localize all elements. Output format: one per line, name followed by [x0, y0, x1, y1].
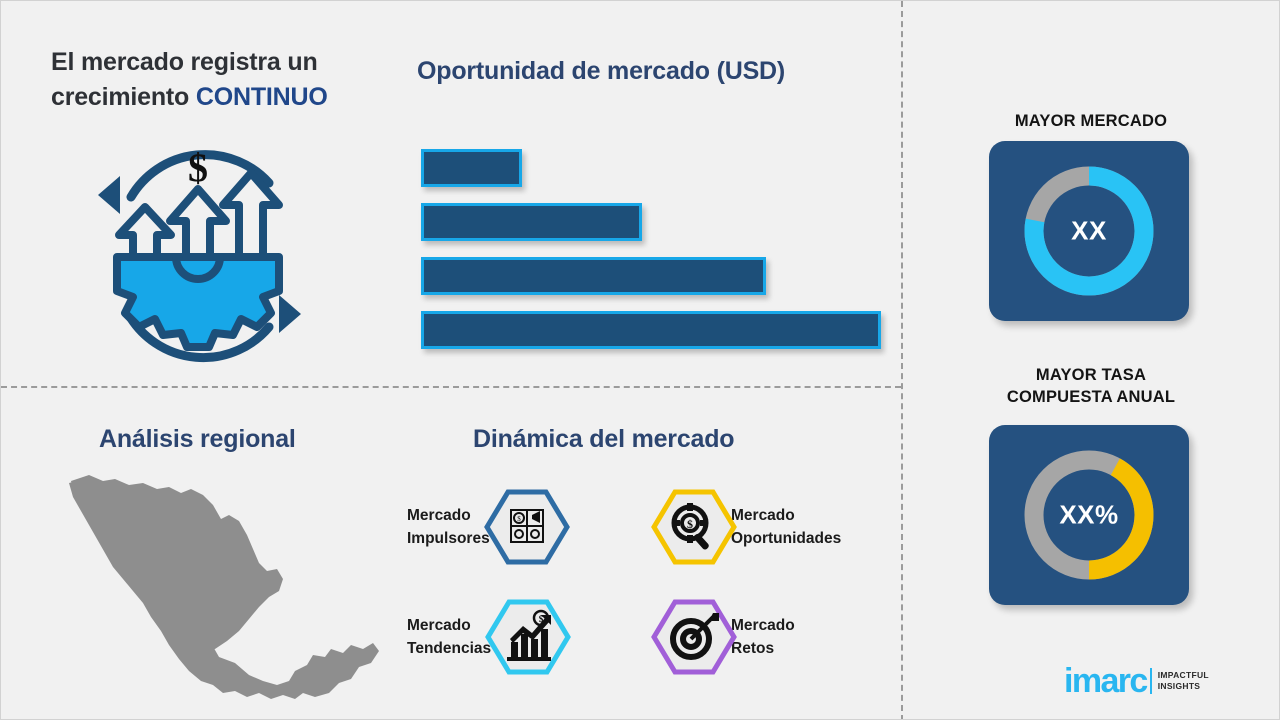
magnifier-dollar-target-icon: $ [651, 489, 737, 565]
vertical-divider [901, 1, 903, 720]
svg-text:$: $ [687, 517, 693, 531]
mexico-map-icon [63, 467, 383, 705]
chart-title: Oportunidad de mercado (USD) [417, 57, 785, 86]
dynamics-label-opportunities: Mercado Oportunidades [731, 504, 841, 551]
imarc-logo: imarc IMPACTFUL INSIGHTS [1064, 661, 1209, 701]
svg-text:$: $ [188, 145, 208, 190]
logo-divider [1150, 668, 1152, 694]
svg-text:$: $ [539, 614, 544, 624]
dynamics-item-trends[interactable]: Mercado Tendencias $ [407, 599, 571, 675]
logo-tagline: IMPACTFUL INSIGHTS [1158, 670, 1209, 693]
dynamics-label-challenges: Mercado Retos [731, 614, 795, 661]
headline-line-2-accent: CONTINUO [196, 83, 328, 111]
logo-wordmark: imarc [1064, 664, 1147, 698]
dynamics-label-drivers: Mercado Impulsores [407, 504, 490, 551]
page-title: El mercado registra un crecimiento CONTI… [51, 45, 391, 114]
market-opportunity-bar-chart [421, 149, 881, 349]
svg-text:$: $ [517, 515, 521, 523]
growth-bar-chart-icon: $ [485, 599, 571, 675]
growth-cycle-gear-icon: $ [73, 139, 323, 371]
dynamics-item-challenges[interactable]: Mercado Retos [651, 599, 795, 675]
kpi-card-highest-cagr: XX% [989, 425, 1189, 605]
regional-analysis-title: Análisis regional [99, 425, 296, 454]
bar-0 [421, 149, 522, 187]
bar-2 [421, 257, 766, 295]
horizontal-divider [1, 386, 901, 388]
kpi-value-largest-market: XX [989, 216, 1189, 247]
puzzle-pieces-icon: $ [484, 489, 570, 565]
dynamics-label-trends: Mercado Tendencias [407, 614, 491, 661]
headline-line-2-plain: crecimiento [51, 83, 196, 111]
kpi-value-highest-cagr: XX% [989, 500, 1189, 531]
target-dart-icon [651, 599, 737, 675]
dynamics-item-opportunities[interactable]: $ Mercado Oportunidades [651, 489, 841, 565]
headline-line-1: El mercado registra un [51, 48, 318, 76]
infographic-page: El mercado registra un crecimiento CONTI… [0, 0, 1280, 720]
kpi-card-largest-market: XX [989, 141, 1189, 321]
market-dynamics-title: Dinámica del mercado [473, 425, 734, 454]
kpi-caption-largest-market: MAYOR MERCADO [961, 111, 1221, 133]
bar-3 [421, 311, 881, 349]
bar-1 [421, 203, 642, 241]
dynamics-item-drivers[interactable]: Mercado Impulsores $ [407, 489, 570, 565]
kpi-caption-highest-cagr: MAYOR TASA COMPUESTA ANUAL [961, 365, 1221, 409]
